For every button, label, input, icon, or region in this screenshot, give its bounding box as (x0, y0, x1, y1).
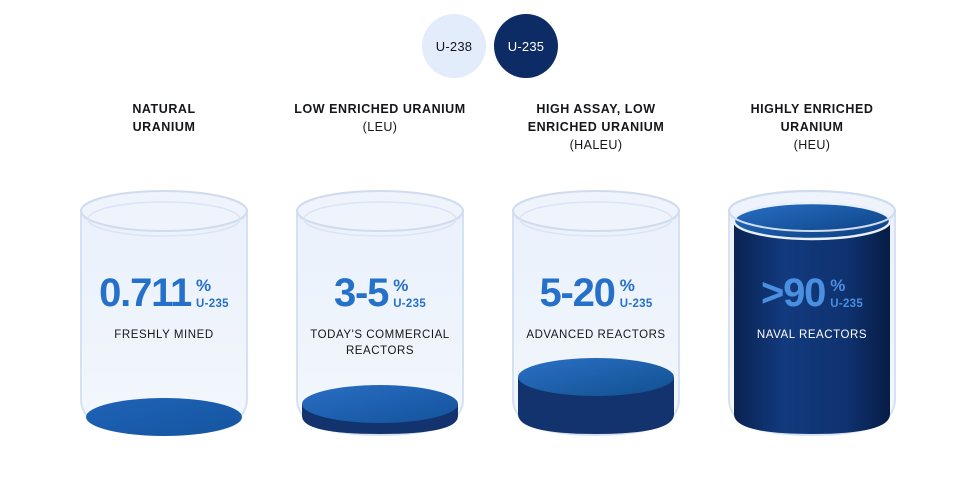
column-title-line: NATURAL (56, 100, 272, 118)
isotope-legend: U-238 U-235 (0, 10, 980, 82)
enrichment-column-natural-uranium: NATURAL URANIUM 0.711 (56, 100, 272, 136)
column-abbreviation: (LEU) (272, 118, 488, 136)
column-title: HIGH ASSAY, LOW ENRICHED URANIUM (488, 100, 704, 136)
cylinder-heu[interactable]: >90 % U-235 NAVAL REACTORS (725, 185, 899, 439)
column-title-line: ENRICHED URANIUM (488, 118, 704, 136)
legend-chip-u235[interactable]: U-235 (494, 14, 558, 78)
legend-label-u238: U-238 (436, 39, 472, 54)
column-abbreviation: (HALEU) (488, 136, 704, 154)
cylinder-graphic (77, 185, 251, 439)
column-title-line: URANIUM (704, 118, 920, 136)
cylinder-haleu[interactable]: 5-20 % U-235 ADVANCED REACTORS (509, 185, 683, 439)
cylinder-leu[interactable]: 3-5 % U-235 TODAY'S COMMERCIAL REACTORS (293, 185, 467, 439)
cylinder-graphic (293, 185, 467, 439)
cylinder-graphic (509, 185, 683, 439)
column-abbreviation: (HEU) (704, 136, 920, 154)
column-title-line: LOW ENRICHED URANIUM (272, 100, 488, 118)
enrichment-column-heu: HIGHLY ENRICHED URANIUM (HEU) (704, 100, 920, 154)
enrichment-column-haleu: HIGH ASSAY, LOW ENRICHED URANIUM (HALEU) (488, 100, 704, 154)
enrichment-column-leu: LOW ENRICHED URANIUM (LEU) 3-5 (272, 100, 488, 136)
column-title: LOW ENRICHED URANIUM (272, 100, 488, 118)
cylinder-graphic (725, 185, 899, 439)
cylinder-natural-uranium[interactable]: 0.711 % U-235 FRESHLY MINED (77, 185, 251, 439)
legend-label-u235: U-235 (508, 39, 544, 54)
column-title: NATURAL URANIUM (56, 100, 272, 136)
column-title-line: HIGH ASSAY, LOW (488, 100, 704, 118)
legend-chip-u238[interactable]: U-238 (422, 14, 486, 78)
column-title-line: URANIUM (56, 118, 272, 136)
column-title-line: HIGHLY ENRICHED (704, 100, 920, 118)
column-title: HIGHLY ENRICHED URANIUM (704, 100, 920, 136)
